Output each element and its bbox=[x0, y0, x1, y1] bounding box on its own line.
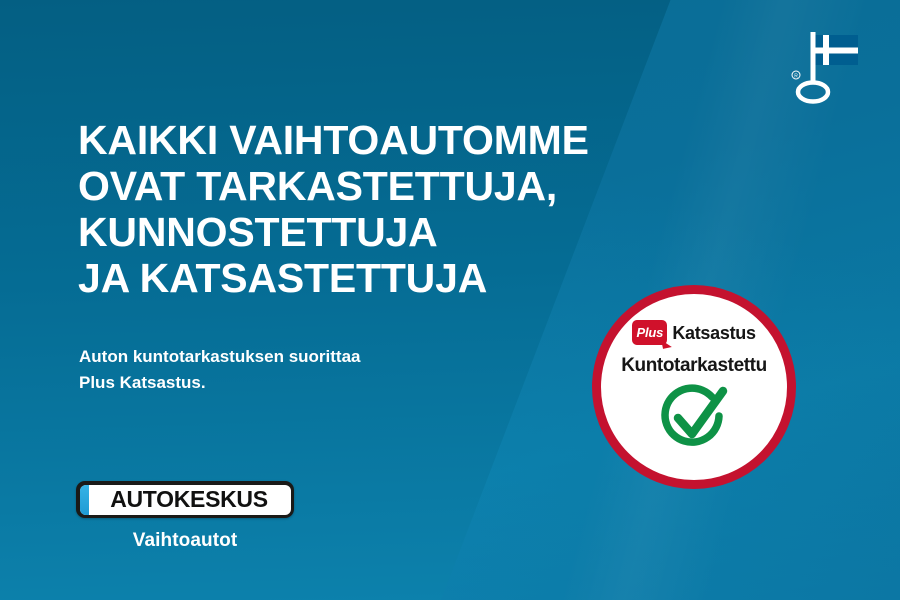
badge-claim-text: Kuntotarkastettu bbox=[621, 356, 767, 375]
autokeskus-logo[interactable]: AUTOKESKUS Vaihtoautot bbox=[76, 481, 294, 552]
logo-sublabel: Vaihtoautot bbox=[76, 530, 294, 552]
badge-brand-row: Plus Katsastus bbox=[632, 320, 755, 345]
logo-plate-inner: AUTOKESKUS bbox=[80, 485, 291, 515]
badge-brand-name: Katsastus bbox=[672, 324, 755, 342]
logo-plate-text: AUTOKESKUS bbox=[102, 488, 268, 511]
subtitle: Auton kuntotarkastuksen suorittaa Plus K… bbox=[79, 344, 509, 395]
plus-logo-mark: Plus bbox=[632, 320, 667, 345]
promo-banner: KAIKKI VAIHTOAUTOMME OVAT TARKASTETTUJA,… bbox=[0, 0, 900, 600]
logo-plate: AUTOKESKUS bbox=[76, 481, 294, 518]
plus-katsastus-badge: Plus Katsastus Kuntotarkastettu bbox=[592, 285, 796, 489]
headline: KAIKKI VAIHTOAUTOMME OVAT TARKASTETTUJA,… bbox=[78, 118, 678, 302]
logo-plate-blue-strip bbox=[80, 485, 89, 515]
plus-logo-text: Plus bbox=[637, 326, 664, 339]
svg-text:R: R bbox=[794, 74, 798, 80]
circle-check-icon bbox=[654, 382, 734, 463]
avainlippu-key-flag-icon: R bbox=[786, 26, 858, 104]
